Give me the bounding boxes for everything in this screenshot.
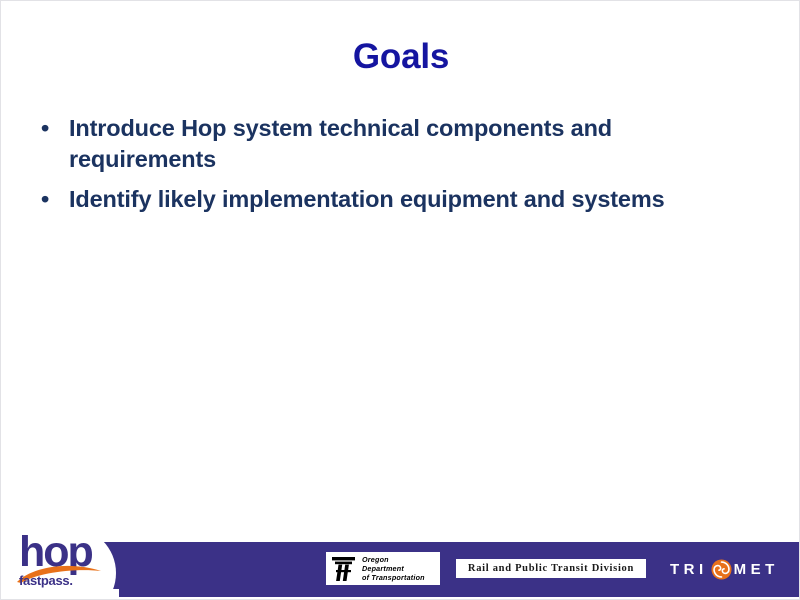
page-title: Goals [1, 39, 800, 76]
bullet-point-icon: • [41, 113, 49, 144]
bullet-point-icon: • [41, 184, 49, 215]
trimet-swirl-icon [711, 559, 732, 580]
division-label-box: Rail and Public Transit Division [456, 559, 646, 578]
odot-bridge-t-icon [329, 555, 359, 583]
list-item-text: Identify likely implementation equipment… [69, 186, 665, 212]
list-item-text: Introduce Hop system technical component… [69, 115, 612, 172]
presentation-slide: Goals • Introduce Hop system technical c… [0, 0, 800, 600]
bullet-list: • Introduce Hop system technical compone… [31, 113, 721, 225]
hop-fastpass-logo: hop fastpass. [13, 529, 117, 597]
slide-footer: hop fastpass. Oregon Department of Trans… [1, 541, 800, 599]
odot-line-1: Oregon [362, 555, 425, 564]
division-label: Rail and Public Transit Division [468, 563, 634, 574]
list-item: • Identify likely implementation equipme… [31, 184, 721, 215]
trimet-wordmark-left: TRI [670, 561, 708, 578]
odot-logo: Oregon Department of Transportation [326, 552, 440, 585]
trimet-wordmark-right: MET [734, 561, 779, 578]
odot-wordmark: Oregon Department of Transportation [362, 555, 425, 583]
odot-line-2: Department [362, 564, 425, 573]
list-item: • Introduce Hop system technical compone… [31, 113, 721, 174]
odot-line-3: of Transportation [362, 573, 425, 582]
hop-tagline: fastpass. [19, 573, 73, 588]
trimet-logo: TRI MET [670, 557, 779, 581]
